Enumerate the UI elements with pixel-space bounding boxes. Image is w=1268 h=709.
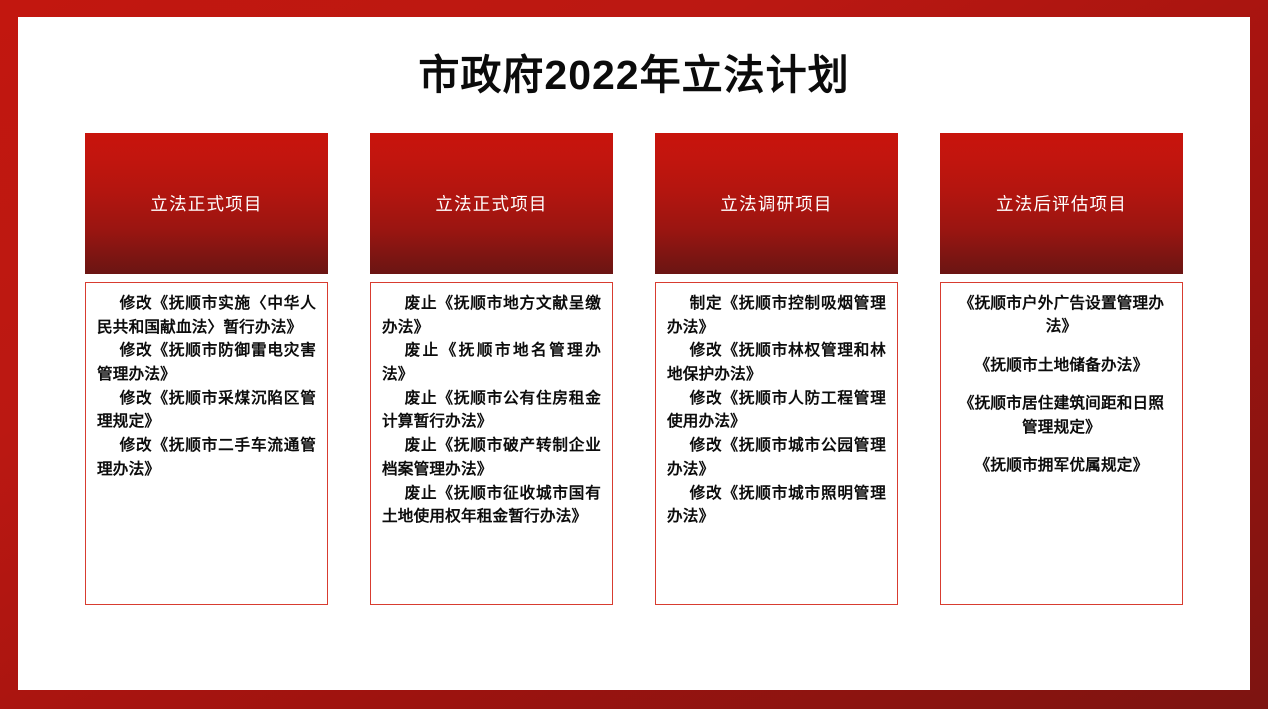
- list-item: 废止《抚顺市破产转制企业档案管理办法》: [382, 434, 601, 481]
- list-item: 废止《抚顺市公有住房租金计算暂行办法》: [382, 387, 601, 434]
- column-legislation-formal-2: 立法正式项目 废止《抚顺市地方文献呈缴办法》 废止《抚顺市地名管理办法》 废止《…: [370, 133, 613, 605]
- column-legislation-research: 立法调研项目 制定《抚顺市控制吸烟管理办法》 修改《抚顺市林权管理和林地保护办法…: [655, 133, 898, 605]
- page-title: 市政府2022年立法计划: [18, 55, 1250, 96]
- list-item: 《抚顺市土地储备办法》: [952, 354, 1171, 377]
- list-item: 修改《抚顺市城市公园管理办法》: [667, 434, 886, 481]
- list-item: 《抚顺市拥军优属规定》: [952, 454, 1171, 477]
- column-header: 立法正式项目: [370, 133, 613, 274]
- slide-content-area: 市政府2022年立法计划 立法正式项目 修改《抚顺市实施〈中华人民共和国献血法〉…: [18, 17, 1250, 690]
- list-item: 《抚顺市居住建筑间距和日照管理规定》: [952, 392, 1171, 439]
- column-legislation-post-evaluation: 立法后评估项目 《抚顺市户外广告设置管理办法》 《抚顺市土地储备办法》 《抚顺市…: [940, 133, 1183, 605]
- item-list: 《抚顺市户外广告设置管理办法》 《抚顺市土地储备办法》 《抚顺市居住建筑间距和日…: [952, 292, 1171, 477]
- column-body: 修改《抚顺市实施〈中华人民共和国献血法〉暂行办法》 修改《抚顺市防御雷电灾害管理…: [85, 282, 328, 605]
- list-item: 废止《抚顺市征收城市国有土地使用权年租金暂行办法》: [382, 482, 601, 529]
- list-item: 修改《抚顺市城市照明管理办法》: [667, 482, 886, 529]
- list-item: 修改《抚顺市林权管理和林地保护办法》: [667, 339, 886, 386]
- column-body: 废止《抚顺市地方文献呈缴办法》 废止《抚顺市地名管理办法》 废止《抚顺市公有住房…: [370, 282, 613, 605]
- list-item: 《抚顺市户外广告设置管理办法》: [952, 292, 1171, 339]
- column-body: 制定《抚顺市控制吸烟管理办法》 修改《抚顺市林权管理和林地保护办法》 修改《抚顺…: [655, 282, 898, 605]
- list-item: 废止《抚顺市地方文献呈缴办法》: [382, 292, 601, 339]
- legislation-columns: 立法正式项目 修改《抚顺市实施〈中华人民共和国献血法〉暂行办法》 修改《抚顺市防…: [85, 133, 1189, 605]
- item-list: 废止《抚顺市地方文献呈缴办法》 废止《抚顺市地名管理办法》 废止《抚顺市公有住房…: [382, 292, 601, 529]
- column-body: 《抚顺市户外广告设置管理办法》 《抚顺市土地储备办法》 《抚顺市居住建筑间距和日…: [940, 282, 1183, 605]
- list-item: 修改《抚顺市实施〈中华人民共和国献血法〉暂行办法》: [97, 292, 316, 339]
- column-header: 立法后评估项目: [940, 133, 1183, 274]
- item-list: 制定《抚顺市控制吸烟管理办法》 修改《抚顺市林权管理和林地保护办法》 修改《抚顺…: [667, 292, 886, 529]
- slide-frame: 市政府2022年立法计划 立法正式项目 修改《抚顺市实施〈中华人民共和国献血法〉…: [0, 0, 1268, 709]
- list-item: 修改《抚顺市采煤沉陷区管理规定》: [97, 387, 316, 434]
- column-header: 立法正式项目: [85, 133, 328, 274]
- column-legislation-formal-1: 立法正式项目 修改《抚顺市实施〈中华人民共和国献血法〉暂行办法》 修改《抚顺市防…: [85, 133, 328, 605]
- list-item: 废止《抚顺市地名管理办法》: [382, 339, 601, 386]
- column-header: 立法调研项目: [655, 133, 898, 274]
- item-list: 修改《抚顺市实施〈中华人民共和国献血法〉暂行办法》 修改《抚顺市防御雷电灾害管理…: [97, 292, 316, 482]
- list-item: 修改《抚顺市人防工程管理使用办法》: [667, 387, 886, 434]
- list-item: 修改《抚顺市二手车流通管理办法》: [97, 434, 316, 481]
- list-item: 制定《抚顺市控制吸烟管理办法》: [667, 292, 886, 339]
- list-item: 修改《抚顺市防御雷电灾害管理办法》: [97, 339, 316, 386]
